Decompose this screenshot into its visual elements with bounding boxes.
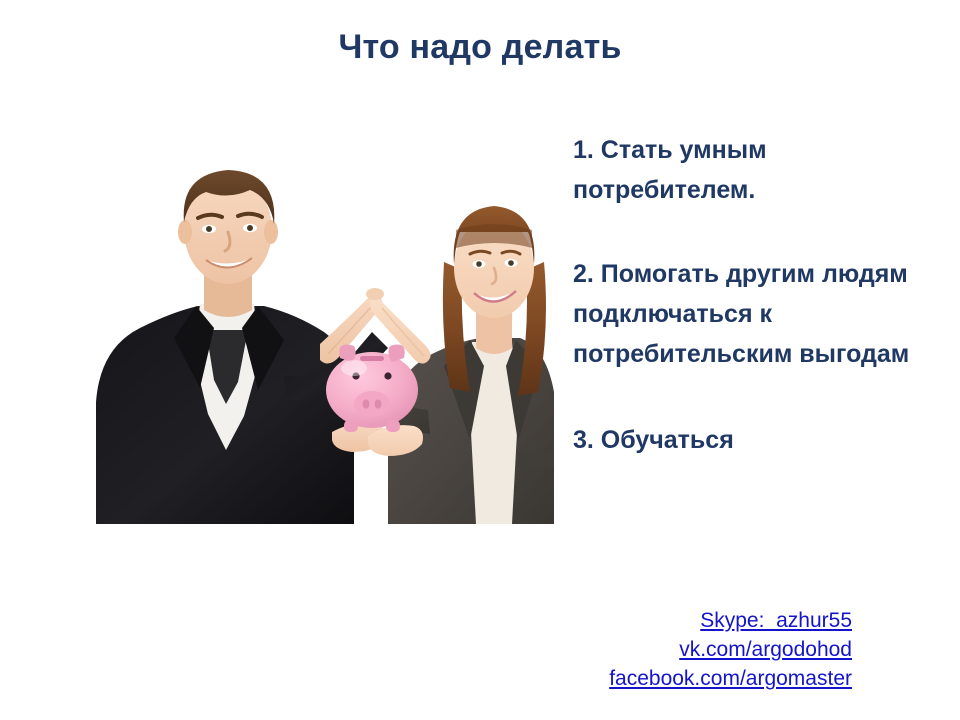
woman-pocket — [518, 452, 554, 468]
couple-with-piggy-bank-photo — [88, 152, 558, 524]
slide-canvas: Что надо делать — [0, 0, 960, 720]
skype-link[interactable]: Skype: azhur55 — [700, 606, 852, 635]
vk-link[interactable]: vk.com/argodohod — [679, 635, 852, 664]
man-ear-left — [178, 220, 192, 244]
photo-illustration — [88, 152, 558, 524]
facebook-link[interactable]: facebook.com/argomaster — [609, 664, 852, 693]
list-item-2: 2. Помогать другим людям подключаться к … — [573, 254, 943, 374]
list-item-3: 3. Обучаться — [573, 420, 943, 460]
footer-row-facebook: facebook.com/argomaster — [420, 664, 852, 693]
page-title: Что надо делать — [0, 28, 960, 67]
footer-row-skype: Skype: azhur55 — [420, 606, 852, 635]
contact-links: Skype: azhur55 vk.com/argodohod facebook… — [420, 606, 852, 693]
footer-row-vk: vk.com/argodohod — [420, 635, 852, 664]
instruction-list: 1. Стать умным потребителем. 2. Помогать… — [573, 130, 943, 460]
list-item-1: 1. Стать умным потребителем. — [573, 130, 943, 210]
man-ear-right — [264, 220, 278, 244]
roof-apex-fingertips — [366, 288, 384, 300]
